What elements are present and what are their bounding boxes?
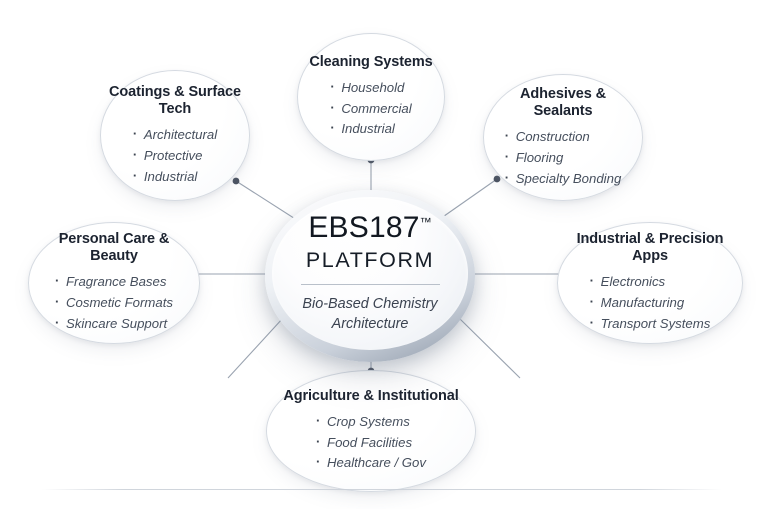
- list-item: Commercial: [330, 99, 411, 120]
- node-cleaning-systems[interactable]: Cleaning Systems Household Commercial In…: [297, 33, 445, 161]
- list-item: Specialty Bonding: [505, 169, 622, 190]
- node-title: Cleaning Systems: [303, 54, 438, 71]
- node-item-list: Construction Flooring Specialty Bonding: [505, 127, 622, 190]
- list-item: Construction: [505, 127, 622, 148]
- node-item-list: Electronics Manufacturing Transport Syst…: [590, 272, 711, 335]
- node-item-list: Fragrance Bases Cosmetic Formats Skincar…: [55, 272, 173, 335]
- node-item-list: Architectural Protective Industrial: [133, 125, 217, 188]
- node-title: Industrial & Precision Apps: [558, 231, 742, 265]
- list-item: Industrial: [330, 119, 411, 140]
- list-item: Healthcare / Gov: [316, 453, 426, 474]
- list-item: Household: [330, 78, 411, 99]
- node-item-list: Crop Systems Food Facilities Healthcare …: [316, 412, 426, 475]
- node-adhesives-sealants[interactable]: Adhesives & Sealants Construction Floori…: [483, 74, 643, 201]
- connector-line-coatings-surface-tech: [236, 181, 300, 222]
- platform-brand-text: EBS187: [308, 211, 419, 244]
- platform-subtitle: PLATFORM: [306, 250, 434, 272]
- platform-brand-name: EBS187™: [308, 213, 431, 243]
- list-item: Protective: [133, 146, 217, 167]
- list-item: Electronics: [590, 272, 711, 293]
- platform-tagline-line2: Architecture: [332, 315, 409, 334]
- list-item: Cosmetic Formats: [55, 293, 173, 314]
- list-item: Fragrance Bases: [55, 272, 173, 293]
- node-coatings-surface-tech[interactable]: Coatings & Surface Tech Architectural Pr…: [100, 70, 250, 201]
- list-item: Manufacturing: [590, 293, 711, 314]
- node-title: Personal Care & Beauty: [29, 231, 199, 265]
- footer-divider: [42, 489, 722, 490]
- node-title: Adhesives & Sealants: [484, 86, 642, 120]
- platform-tagline-line1: Bio-Based Chemistry: [302, 295, 437, 314]
- list-item: Transport Systems: [590, 314, 711, 335]
- hub-divider: [301, 284, 440, 285]
- node-item-list: Household Commercial Industrial: [330, 78, 411, 141]
- connector-dot-coatings-surface-tech: [233, 178, 240, 185]
- list-item: Skincare Support: [55, 314, 173, 335]
- node-industrial-precision-apps[interactable]: Industrial & Precision Apps Electronics …: [557, 222, 743, 344]
- diagram-canvas: Coatings & Surface Tech Architectural Pr…: [0, 0, 764, 509]
- list-item: Crop Systems: [316, 412, 426, 433]
- platform-hub[interactable]: EBS187™ PLATFORM Bio-Based Chemistry Arc…: [265, 190, 475, 362]
- node-title: Agriculture & Institutional: [277, 388, 464, 405]
- list-item: Food Facilities: [316, 433, 426, 454]
- trademark-icon: ™: [420, 215, 432, 229]
- list-item: Architectural: [133, 125, 217, 146]
- connector-line-adhesives-sealants: [437, 179, 497, 221]
- list-item: Flooring: [505, 148, 622, 169]
- node-personal-care-beauty[interactable]: Personal Care & Beauty Fragrance Bases C…: [28, 222, 200, 344]
- node-title: Coatings & Surface Tech: [103, 84, 247, 118]
- list-item: Industrial: [133, 167, 217, 188]
- connector-line-hub-lower-right: [459, 318, 520, 378]
- platform-hub-face: EBS187™ PLATFORM Bio-Based Chemistry Arc…: [272, 197, 468, 350]
- connector-line-hub-lower-left: [228, 318, 283, 378]
- node-agriculture-institutional[interactable]: Agriculture & Institutional Crop Systems…: [266, 370, 476, 492]
